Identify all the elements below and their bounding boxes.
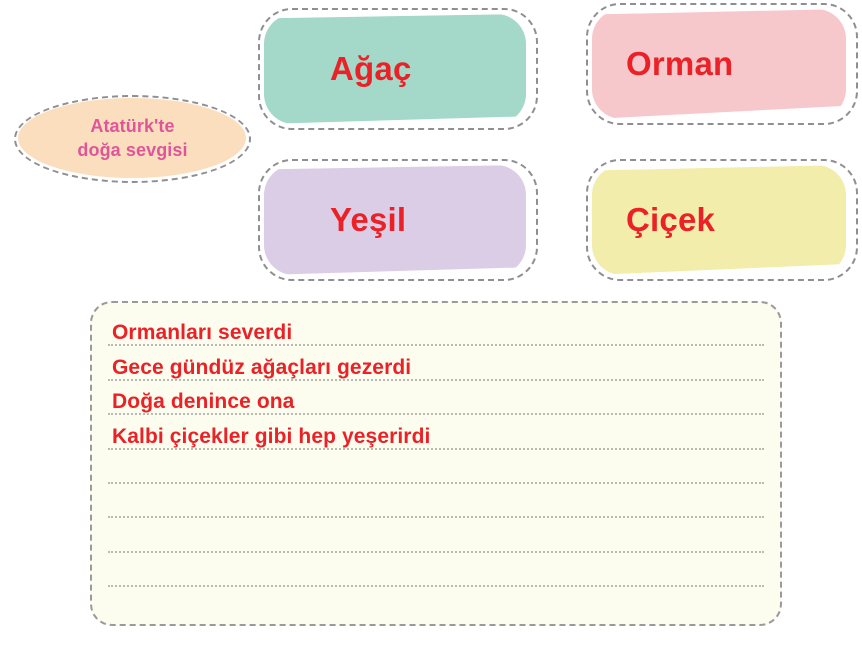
- writing-line[interactable]: [108, 553, 764, 587]
- writing-lines-area: Ormanları severdi Gece gündüz ağaçları g…: [108, 312, 764, 620]
- writing-line[interactable]: Doğa denince ona: [108, 381, 764, 415]
- writing-line-text: Kalbi çiçekler gibi hep yeşerirdi: [112, 426, 430, 447]
- topic-line-1: Atatürk'te: [90, 115, 174, 139]
- writing-line[interactable]: [108, 450, 764, 484]
- writing-line[interactable]: Gece gündüz ağaçları gezerdi: [108, 346, 764, 380]
- word-card-agac-label: Ağaç: [330, 8, 412, 130]
- writing-line[interactable]: Ormanları severdi: [108, 312, 764, 346]
- writing-line[interactable]: [108, 484, 764, 518]
- writing-panel[interactable]: Ormanları severdi Gece gündüz ağaçları g…: [90, 301, 782, 626]
- writing-line[interactable]: Kalbi çiçekler gibi hep yeşerirdi: [108, 415, 764, 449]
- writing-line-text: Doğa denince ona: [112, 391, 294, 412]
- topic-line-2: doğa sevgisi: [77, 139, 187, 163]
- writing-line[interactable]: [108, 518, 764, 552]
- word-card-yesil[interactable]: Yeşil: [258, 159, 538, 281]
- word-card-orman-label: Orman: [626, 3, 733, 125]
- word-card-cicek-label: Çiçek: [626, 159, 715, 281]
- worksheet-canvas: Atatürk'te doğa sevgisi Ağaç Orman Yeşil…: [0, 0, 862, 651]
- word-card-cicek[interactable]: Çiçek: [586, 159, 858, 281]
- word-card-orman[interactable]: Orman: [586, 3, 858, 125]
- writing-line-text: Gece gündüz ağaçları gezerdi: [112, 357, 411, 378]
- word-card-agac[interactable]: Ağaç: [258, 8, 538, 130]
- writing-line-text: Ormanları severdi: [112, 322, 292, 343]
- writing-line-spacer: [108, 587, 764, 619]
- topic-ellipse-text: Atatürk'te doğa sevgisi: [14, 95, 251, 183]
- word-card-yesil-label: Yeşil: [330, 159, 406, 281]
- topic-ellipse: Atatürk'te doğa sevgisi: [14, 95, 251, 183]
